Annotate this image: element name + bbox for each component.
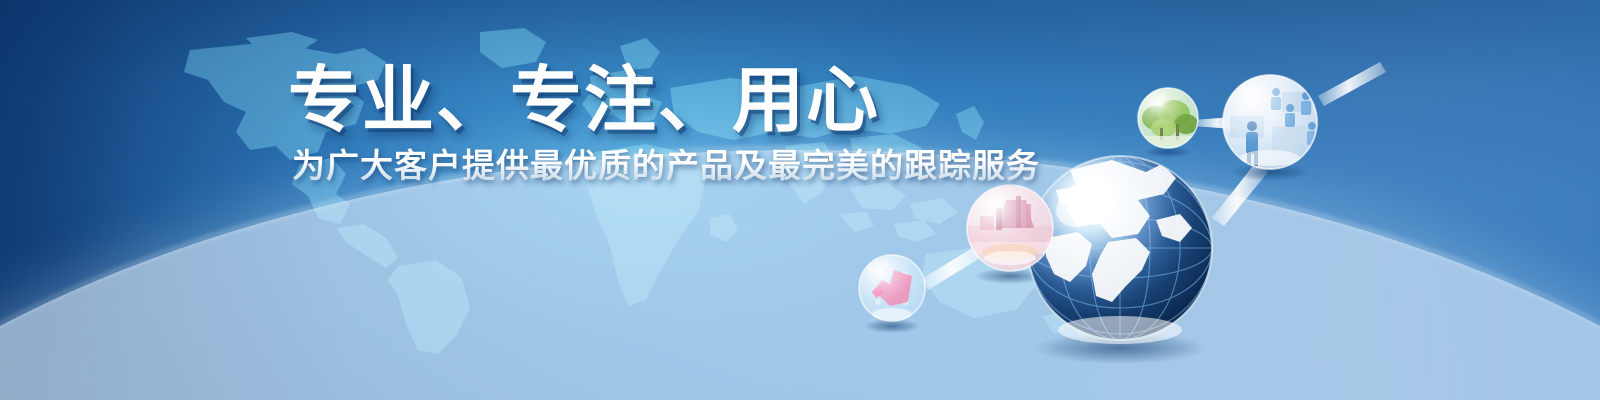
globe-bubble-cluster: [820, 30, 1420, 370]
page-title: 专业、专注、用心: [288, 62, 880, 140]
bubble-people: [1223, 75, 1317, 169]
bubble-map: [859, 255, 925, 321]
bubble-industry: [967, 185, 1053, 271]
earth-globe-sphere: [1028, 156, 1212, 344]
bubble-nature: [1138, 88, 1198, 148]
page-subtitle: 为广大客户提供最优质的产品及最完美的跟踪服务: [292, 145, 1040, 186]
promo-banner: 专业、专注、用心 为广大客户提供最优质的产品及最完美的跟踪服务: [0, 0, 1600, 400]
